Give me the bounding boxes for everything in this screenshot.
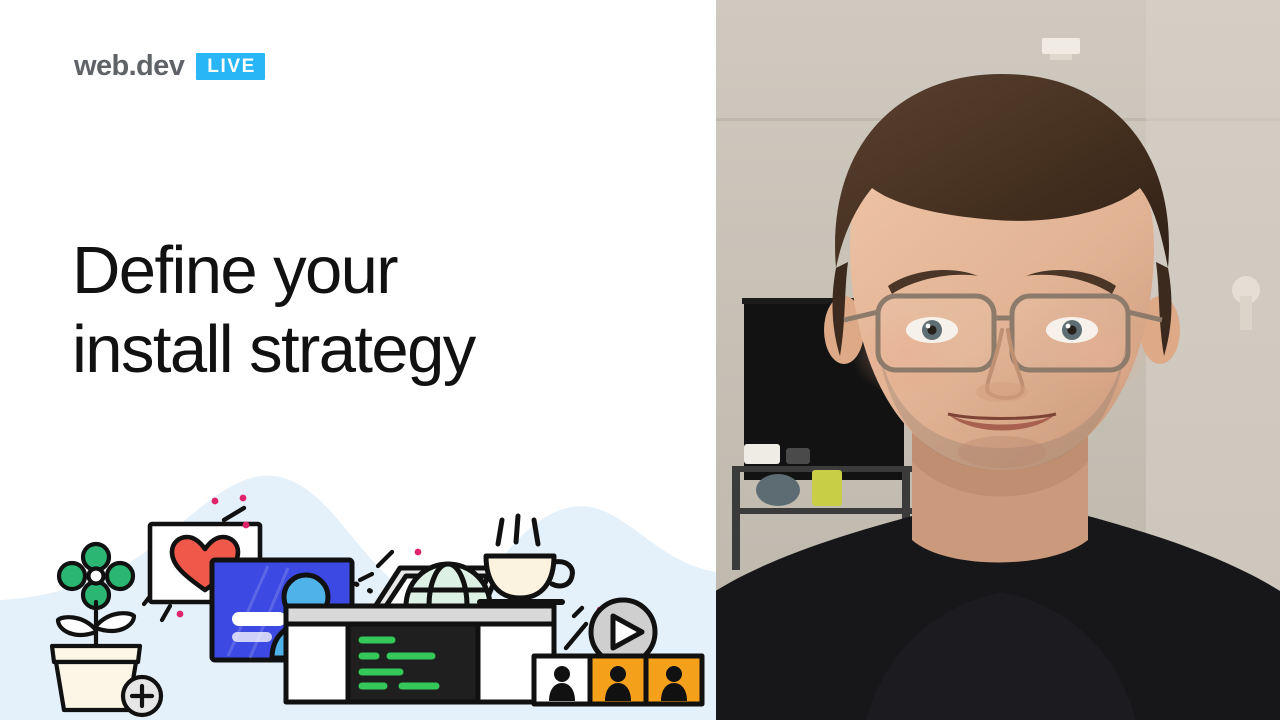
speaker-webcam-feed [716,0,1280,720]
web-dev-live-logo: web.dev LIVE [74,52,265,81]
presentation-with-speaker-layout: web.dev LIVE Define your install strateg… [0,0,1280,720]
brand-wordmark: web.dev [74,52,184,81]
page-title: Define your install strategy [72,231,672,389]
wall-fixture [1042,38,1080,54]
shelf-item-dark [786,448,810,464]
slide-footer-illustration [0,460,716,720]
shelf-item-candle [812,470,842,506]
live-badge: LIVE [196,53,265,80]
presentation-slide: web.dev LIVE Define your install strateg… [0,0,716,720]
shelf-item-white [744,444,780,464]
shelf-item-bowl [756,474,800,506]
plus-badge-icon [123,677,161,715]
speaker-portrait [716,0,1280,720]
